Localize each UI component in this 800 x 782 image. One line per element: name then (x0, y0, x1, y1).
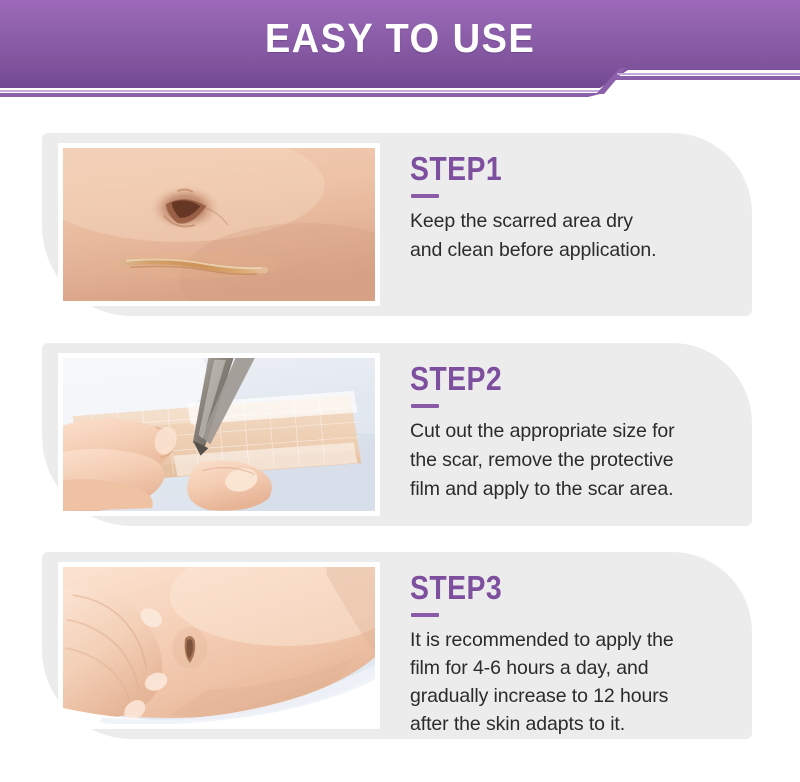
scarred-abdomen-photo (63, 148, 375, 301)
step-card-2: STEP2 Cut out the appropriate size for t… (42, 343, 752, 526)
step-2-body-line-2: the scar, remove the protective (410, 446, 704, 475)
step-3-body-line-1: It is recommended to apply the (410, 626, 704, 654)
banner-rule-left-light (0, 90, 606, 92)
step-3-label: STEP3 (410, 570, 663, 606)
step-1-text-block: STEP1 Keep the scarred area dry and clea… (410, 151, 704, 265)
banner-rule-right (614, 76, 800, 80)
step-1-body-line-2: and clean before application. (410, 236, 704, 265)
step-2-body-line-3: film and apply to the scar area. (410, 475, 704, 504)
banner-rule-right-light (617, 73, 800, 75)
step-2-label: STEP2 (410, 361, 663, 397)
abdomen-hand-photo (63, 567, 375, 724)
step-2-photo-frame (58, 353, 380, 516)
step-3-body-line-3: gradually increase to 12 hours (410, 682, 704, 710)
banner-rule-left (0, 93, 604, 97)
cutting-scar-sheet-photo (63, 358, 375, 511)
easy-to-use-infographic: EASY TO USE (0, 0, 800, 782)
step-2-body-line-1: Cut out the appropriate size for (410, 417, 704, 446)
step-card-1: STEP1 Keep the scarred area dry and clea… (42, 133, 752, 316)
step-2-text-block: STEP2 Cut out the appropriate size for t… (410, 361, 704, 504)
step-3-dash (411, 613, 439, 617)
step-2-dash (411, 404, 439, 408)
page-title: EASY TO USE (28, 14, 772, 62)
step-1-dash (411, 194, 439, 198)
step-1-label: STEP1 (410, 151, 663, 187)
header-banner: EASY TO USE (0, 0, 800, 96)
step-3-body-line-4: after the skin adapts to it. (410, 710, 704, 738)
step-3-body-line-2: film for 4-6 hours a day, and (410, 654, 704, 682)
step-3-photo-frame (58, 562, 380, 729)
step-2-body: Cut out the appropriate size for the sca… (410, 417, 704, 504)
step-1-body-line-1: Keep the scarred area dry (410, 207, 704, 236)
step-card-3: STEP3 It is recommended to apply the fil… (42, 552, 752, 739)
step-3-body: It is recommended to apply the film for … (410, 626, 704, 738)
step-1-body: Keep the scarred area dry and clean befo… (410, 207, 704, 265)
step-3-text-block: STEP3 It is recommended to apply the fil… (410, 570, 704, 738)
step-1-photo-frame (58, 143, 380, 306)
